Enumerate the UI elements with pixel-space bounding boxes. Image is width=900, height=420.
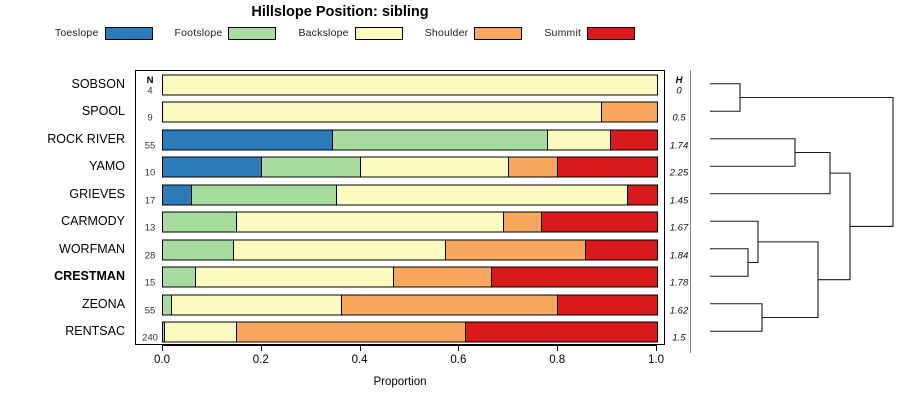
bar-segment-footslope [333,130,548,149]
x-tick-label: 0.0 [154,354,170,366]
bar-segment-footslope [192,185,338,204]
bar-segment-backslope [234,240,446,259]
page-title: Hillslope Position: sibling [0,4,680,20]
n-value: 9 [136,113,164,124]
n-value: 10 [136,168,164,179]
bar-segment-toeslope [163,158,262,177]
bar-segment-toeslope [163,130,333,149]
n-value: 17 [136,195,164,206]
bar-segment-footslope [163,295,172,314]
dendrogram [690,62,900,352]
legend-label: Shoulder [425,27,469,39]
dendrogram-link [710,84,740,112]
legend-swatch [355,27,403,40]
stacked-bar [162,267,658,288]
legend-item-summit: Summit [544,27,635,40]
legend-item-shoulder: Shoulder [425,27,523,40]
n-value: 13 [136,223,164,234]
bar-segment-summit [558,158,657,177]
bar-segment-footslope [163,268,196,287]
category-label: CRESTMAN [54,269,125,283]
bar-segment-summit [586,240,657,259]
bar-segment-backslope [196,268,394,287]
legend-label: Summit [544,27,581,39]
bar-segment-shoulder [342,295,558,314]
x-tick-label: 0.2 [253,354,269,366]
dendrogram-link [710,153,830,194]
category-label: CARMODY [61,214,125,228]
legend-swatch [228,27,276,40]
n-value: 15 [136,278,164,289]
dendrogram-link [758,242,818,318]
legend-swatch [474,27,522,40]
stacked-bar [162,239,658,260]
x-tick-label: 0.6 [450,354,466,366]
bar-segment-summit [492,268,657,287]
dendrogram-link [710,139,795,167]
bar-segment-backslope [165,323,237,342]
bar-segment-footslope [262,158,361,177]
category-label: YAMO [89,159,125,173]
dendrogram-link [710,249,748,277]
stacked-bar [162,212,658,233]
bar-segment-shoulder [446,240,587,259]
category-label: GRIEVES [69,187,125,201]
stacked-bar [162,102,658,123]
bar-segment-backslope [237,213,504,232]
legend-item-footslope: Footslope [175,27,277,40]
legend-item-backslope: Backslope [298,27,402,40]
bar-segment-summit [628,185,657,204]
n-value: 4 [136,85,164,96]
bar-segment-shoulder [509,158,558,177]
x-tick-label: 0.8 [549,354,565,366]
x-tick [458,345,459,351]
dendrogram-link [710,221,758,262]
bar-segment-shoulder [602,103,657,122]
category-label: WORFMAN [59,242,125,256]
legend-label: Backslope [298,27,348,39]
category-label: ROCK RIVER [47,132,125,146]
dendrogram-link [818,173,850,280]
category-label: SOBSON [72,77,126,91]
stacked-bar [162,129,658,150]
stacked-bar [162,294,658,315]
stacked-bar [162,322,658,343]
bar-segment-backslope [337,185,627,204]
bar-segment-backslope [163,75,657,94]
x-tick [162,345,163,351]
bar-segment-footslope [163,213,237,232]
bar-segment-backslope [172,295,342,314]
category-label: ZEONA [82,297,125,311]
stacked-bar [162,74,658,95]
bar-segment-shoulder [237,323,466,342]
x-axis-title: Proportion [135,376,665,388]
x-tick [656,345,657,351]
x-tick [557,345,558,351]
n-value: 240 [136,333,164,344]
bar-segment-shoulder [394,268,493,287]
x-tick-label: 1.0 [648,354,664,366]
dendrogram-divider [690,70,691,353]
dendrogram-link [740,98,893,227]
bar-segment-summit [611,130,657,149]
category-axis-labels: SOBSONSPOOLROCK RIVERYAMOGRIEVESCARMODYW… [0,70,130,345]
dendrogram-svg [690,62,900,352]
bar-segment-footslope [163,240,234,259]
n-value: 55 [136,140,164,151]
bar-segment-summit [542,213,657,232]
bar-segment-backslope [548,130,611,149]
legend-label: Footslope [175,27,223,39]
x-tick [360,345,361,351]
stacked-bar [162,157,658,178]
bar-segment-backslope [163,103,602,122]
n-column: N 4955101713281555240 [136,70,164,345]
stacked-bar [162,184,658,205]
legend-swatch [587,27,635,40]
category-label: SPOOL [82,104,125,118]
x-tick [261,345,262,351]
legend-label: Toeslope [55,27,99,39]
legend: ToeslopeFootslopeBackslopeShoulderSummit [0,25,690,41]
n-value: 28 [136,250,164,261]
legend-swatch [105,27,153,40]
x-tick-label: 0.4 [352,354,368,366]
dendrogram-link [710,304,762,332]
category-label: RENTSAC [65,324,125,338]
bar-segment-summit [558,295,657,314]
bar-segment-toeslope [163,185,192,204]
x-axis-line [162,345,656,346]
bar-segment-backslope [361,158,509,177]
x-axis: 0.00.20.40.60.81.0 [135,345,665,375]
legend-item-toeslope: Toeslope [55,27,153,40]
bar-segment-shoulder [504,213,542,232]
chart-root: Hillslope Position: sibling ToeslopeFoot… [0,0,900,420]
plot-area [135,70,665,345]
n-value: 55 [136,305,164,316]
bar-segment-summit [466,323,657,342]
